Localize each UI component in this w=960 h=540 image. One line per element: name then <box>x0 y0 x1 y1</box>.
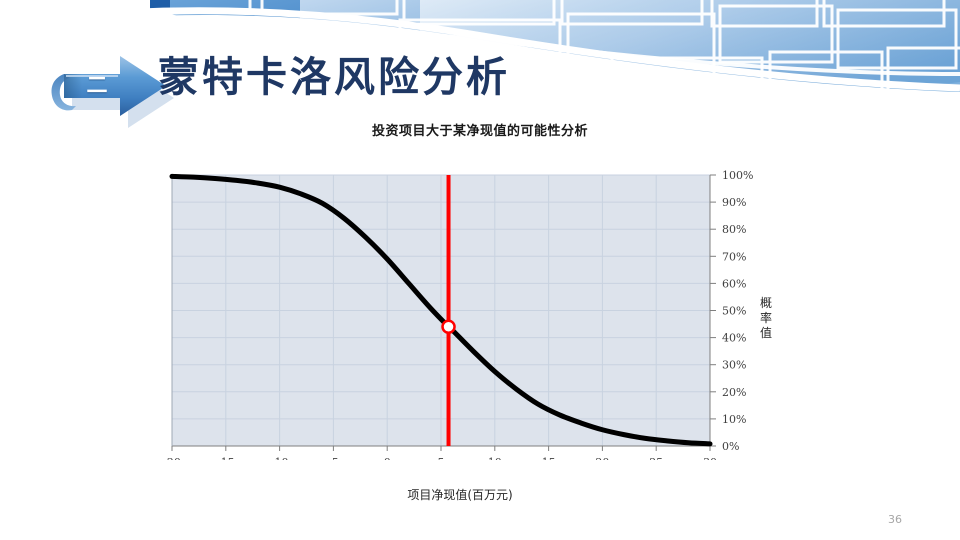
x-tick-label: 10 <box>488 456 502 460</box>
y-tick-label: 90% <box>722 196 746 209</box>
chart-x-tick-labels: -20-15-10-5051015202530 <box>163 456 717 460</box>
y-tick-label: 0% <box>722 440 739 453</box>
x-tick-label: 20 <box>595 456 609 460</box>
x-tick-label: 30 <box>703 456 717 460</box>
y-tick-label: 30% <box>722 359 746 372</box>
probability-chart: -20-15-10-5051015202530 0%10%20%30%40%50… <box>100 160 860 460</box>
chart-y-axis-label: 概率 值 <box>758 296 774 341</box>
x-tick-label: -20 <box>163 456 181 460</box>
x-tick-label: 25 <box>649 456 663 460</box>
y-tick-label: 20% <box>722 386 746 399</box>
y-tick-label: 10% <box>722 413 746 426</box>
x-tick-label: -5 <box>328 456 339 460</box>
slide: 二 蒙特卡洛风险分析 投资项目大于某净现值的可能性分析 -20-15-10-50… <box>0 0 960 540</box>
intersection-marker <box>443 321 455 333</box>
y-tick-label: 60% <box>722 277 746 290</box>
y-tick-label: 100% <box>722 169 753 182</box>
x-tick-label: 15 <box>542 456 556 460</box>
chart-y-tick-labels: 0%10%20%30%40%50%60%70%80%90%100% <box>722 169 753 453</box>
x-tick-label: 0 <box>384 456 391 460</box>
x-tick-label: 5 <box>438 456 445 460</box>
page-title: 蒙特卡洛风险分析 <box>158 52 510 102</box>
y-tick-label: 40% <box>722 332 746 345</box>
x-tick-label: -15 <box>217 456 235 460</box>
chart-x-axis-label: 项目净现值(百万元) <box>310 486 610 503</box>
page-number: 36 <box>888 513 902 526</box>
y-tick-label: 80% <box>722 223 746 236</box>
chart-title: 投资项目大于某净现值的可能性分析 <box>0 120 960 139</box>
y-tick-label: 50% <box>722 305 746 318</box>
x-tick-label: -10 <box>271 456 289 460</box>
y-tick-label: 70% <box>722 250 746 263</box>
